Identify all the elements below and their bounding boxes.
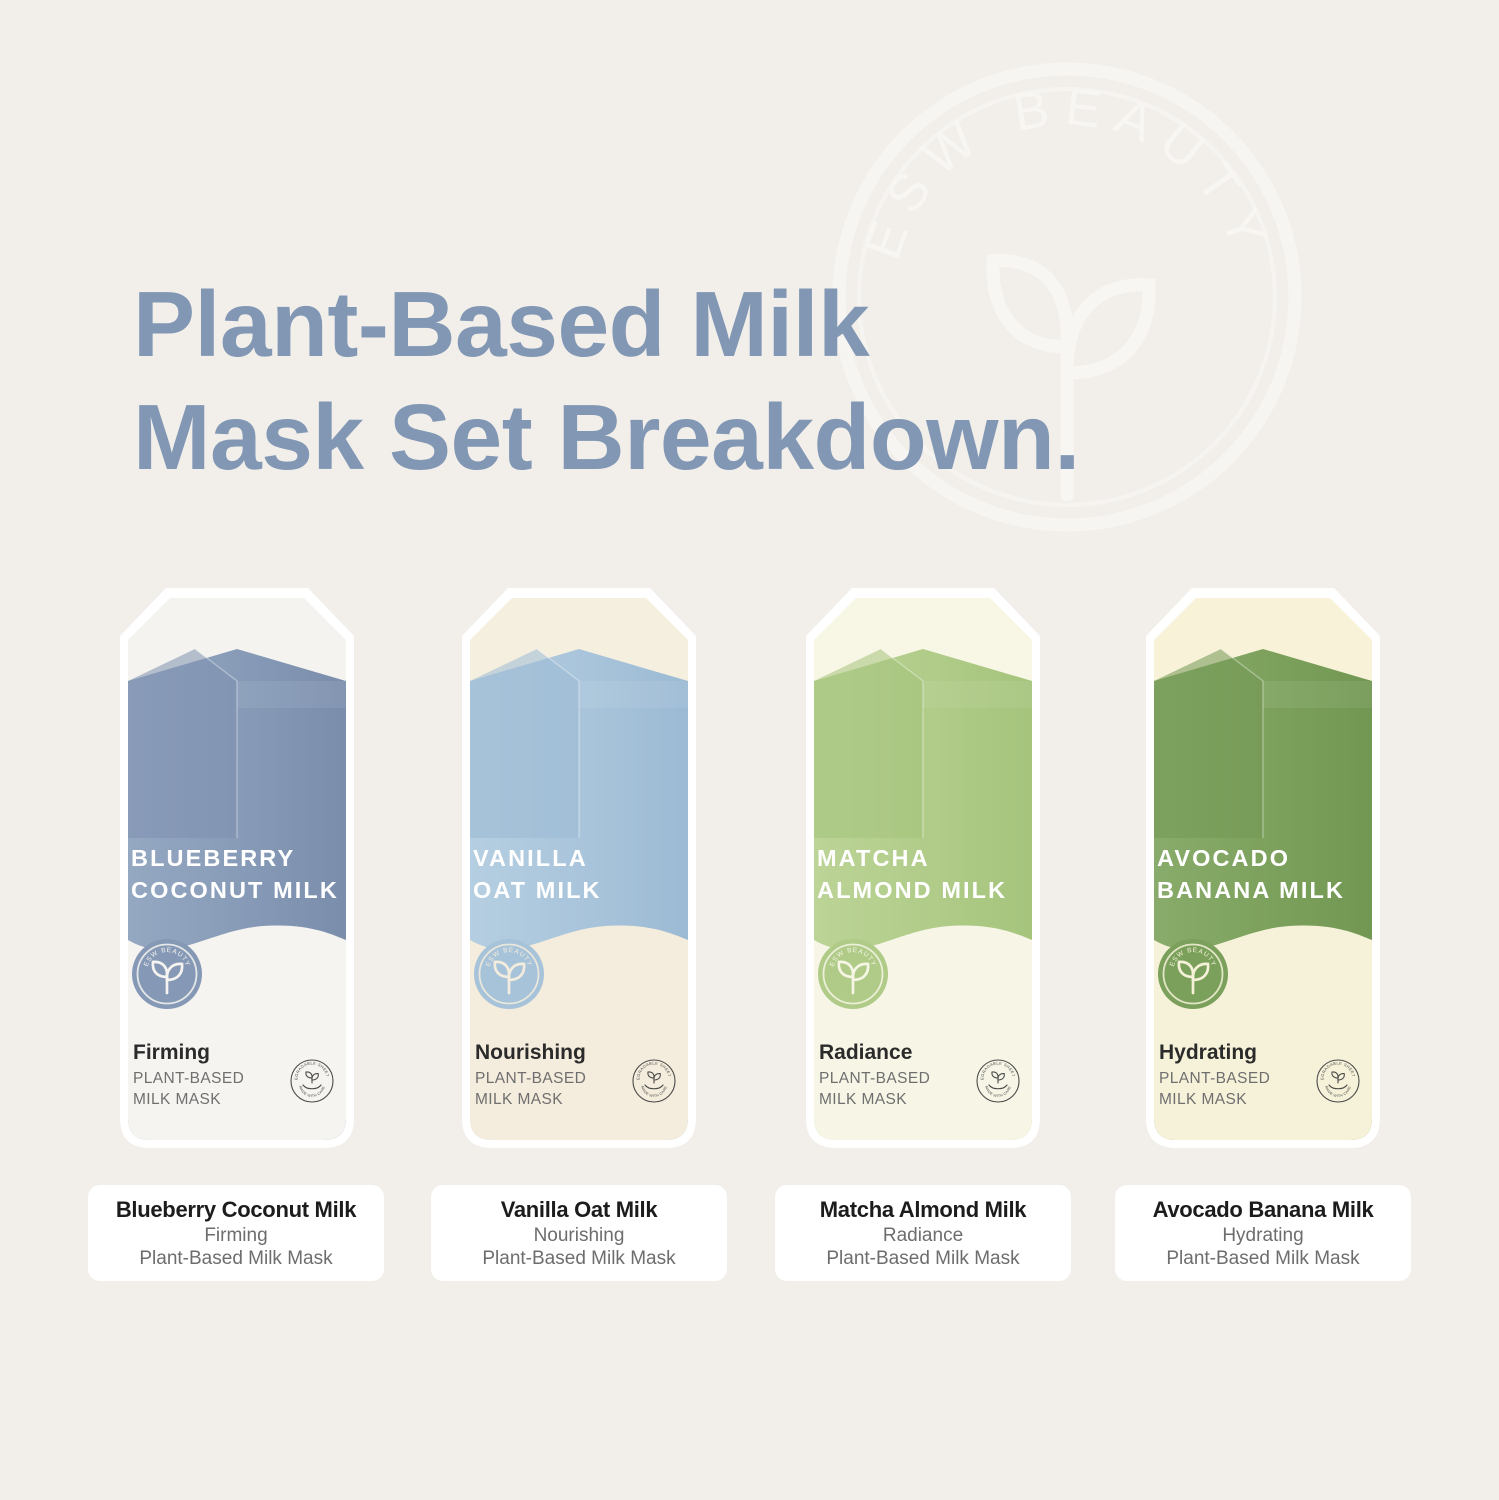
carton-gable-highlight [579,681,688,708]
caption-benefit: Firming [204,1224,267,1248]
watermark-brand-text: ESW BEAUTY [854,78,1281,266]
carton-sub-line1: PLANT-BASED [819,1070,930,1087]
carton-benefit-label: Hydrating [1159,1041,1257,1064]
caption-card-avocado-banana-milk[interactable]: Avocado Banana Milk Hydrating Plant-Base… [1115,1185,1411,1281]
caption-subtitle: Plant-Based Milk Mask [1166,1247,1359,1271]
carton-benefit-label: Nourishing [475,1041,586,1064]
carton-title-line1: MATCHA [817,845,930,871]
product-carton-avocado-banana-milk[interactable]: ESW BEAUTY Hydrating PLANT-BASED MILK MA… [1129,578,1397,1160]
product-carton-blueberry-coconut-milk[interactable]: ESW BEAUTY Firming PLANT-BASED MILK MASK… [103,578,371,1160]
carton-sub-line2: MILK MASK [133,1091,221,1108]
carton-title-line2: BANANA MILK [1157,877,1345,903]
caption-card-vanilla-oat-milk[interactable]: Vanilla Oat Milk Nourishing Plant-Based … [431,1185,727,1281]
caption-subtitle: Plant-Based Milk Mask [482,1247,675,1271]
carton-benefit-label: Radiance [819,1041,912,1064]
carton-sub-line1: PLANT-BASED [1159,1070,1270,1087]
caption-subtitle: Plant-Based Milk Mask [139,1247,332,1271]
caption-product-name: Matcha Almond Milk [820,1197,1026,1224]
carton-gable-left [470,649,579,838]
product-carton-matcha-almond-milk[interactable]: ESW BEAUTY Radiance PLANT-BASED MILK MAS… [789,578,1057,1160]
caption-product-name: Vanilla Oat Milk [501,1197,658,1224]
carton-title-line1: BLUEBERRY [131,845,295,871]
carton-sub-line2: MILK MASK [475,1091,563,1108]
carton-sub-line2: MILK MASK [819,1091,907,1108]
caption-benefit: Nourishing [534,1224,625,1248]
caption-card-matcha-almond-milk[interactable]: Matcha Almond Milk Radiance Plant-Based … [775,1185,1071,1281]
brand-badge: ESW BEAUTY [1158,939,1228,1009]
product-infographic: ESW BEAUTY Plant-Based Milk Mask Set Bre… [0,0,1499,1500]
caption-subtitle: Plant-Based Milk Mask [826,1247,1019,1271]
caption-row: Blueberry Coconut Milk Firming Plant-Bas… [0,1185,1499,1281]
carton-title-line1: AVOCADO [1157,845,1290,871]
carton-sub-line2: MILK MASK [1159,1091,1247,1108]
carton-benefit-label: Firming [133,1041,210,1064]
brand-badge: ESW BEAUTY [818,939,888,1009]
carton-gable-highlight [923,681,1032,708]
carton-gable-left [814,649,923,838]
carton-gable-left [128,649,237,838]
carton-gable-highlight [237,681,346,708]
brand-badge: ESW BEAUTY [132,939,202,1009]
caption-product-name: Avocado Banana Milk [1153,1197,1374,1224]
carton-sub-line1: PLANT-BASED [475,1070,586,1087]
product-carton-vanilla-oat-milk[interactable]: ESW BEAUTY Nourishing PLANT-BASED MILK M… [445,578,713,1160]
carton-row: ESW BEAUTY Firming PLANT-BASED MILK MASK… [0,578,1499,1160]
page-title: Plant-Based Milk Mask Set Breakdown. [133,268,1233,495]
carton-title-line2: ALMOND MILK [817,877,1007,903]
caption-card-blueberry-coconut-milk[interactable]: Blueberry Coconut Milk Firming Plant-Bas… [88,1185,384,1281]
brand-badge: ESW BEAUTY [474,939,544,1009]
carton-title-line2: COCONUT MILK [131,877,339,903]
carton-gable-highlight [1263,681,1372,708]
caption-product-name: Blueberry Coconut Milk [116,1197,356,1224]
carton-title-line1: VANILLA [473,845,588,871]
carton-gable-left [1154,649,1263,838]
caption-benefit: Hydrating [1222,1224,1303,1248]
caption-benefit: Radiance [883,1224,963,1248]
carton-title-line2: OAT MILK [473,877,602,903]
carton-sub-line1: PLANT-BASED [133,1070,244,1087]
